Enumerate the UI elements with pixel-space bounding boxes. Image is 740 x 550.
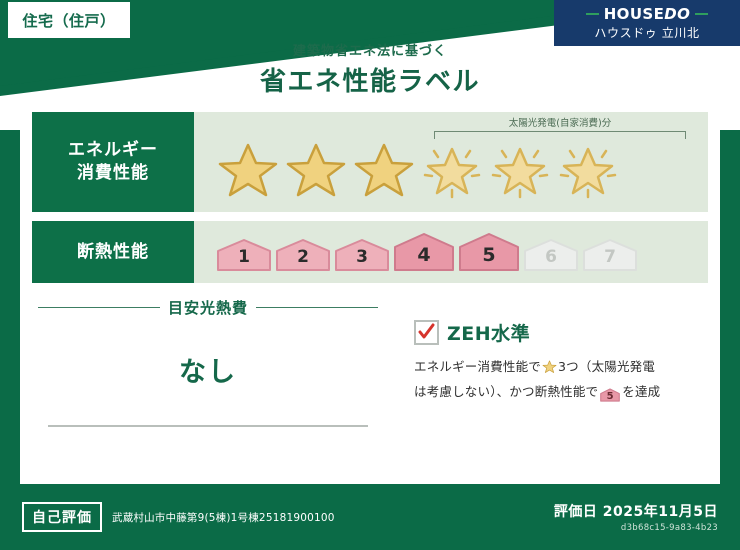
energy-performance-label-screen: 住宅（住戸） HOUSEDO ハウスドゥ 立川北 建築物省エネ法に基づく 省エネ…	[0, 0, 740, 550]
brand-name-accent: DO	[664, 5, 690, 23]
property-address: 武蔵村山市中藤第9(5棟)1号棟25181900100	[112, 510, 335, 525]
zeh-desc-part-2: 3つ（太陽光発電	[558, 359, 655, 374]
utility-cost-section: 目安光熱費 なし	[32, 297, 384, 447]
insulation-level-badge: 2	[275, 238, 331, 272]
star-icon-solar	[488, 139, 552, 199]
insulation-level-value: 3	[356, 247, 368, 272]
brand-rule-right-icon	[695, 13, 708, 15]
footer-left-group: 自己評価 武蔵村山市中藤第9(5棟)1号棟25181900100	[22, 502, 335, 532]
brand-branch-name: ハウスドゥ 立川北	[594, 24, 699, 41]
insulation-level-badge: 4	[393, 232, 455, 272]
page-title: 省エネ性能ラベル	[0, 61, 740, 98]
star-rating	[216, 139, 620, 199]
zeh-title: ZEH水準	[447, 319, 530, 346]
zeh-checkbox[interactable]	[414, 320, 439, 345]
energy-label-line-2: 消費性能	[77, 162, 149, 185]
evaluation-id: d3b68c15-9a83-4b23	[554, 523, 718, 533]
footer: 自己評価 武蔵村山市中藤第9(5棟)1号棟25181900100 評価日 202…	[0, 484, 740, 550]
insulation-level-value: 2	[297, 247, 309, 272]
star-icon-filled	[216, 139, 280, 199]
insulation-performance-value: 1 2 3	[194, 221, 708, 283]
evaluation-date-label: 評価日	[554, 504, 598, 520]
lower-section: 目安光熱費 なし ZEH水準 エネルギー消費性能で3つ（太陽光発電	[32, 297, 708, 447]
star-icon-solar	[420, 139, 484, 199]
insulation-level-scale: 1 2 3	[216, 232, 638, 272]
zeh-desc-part-4: を達成	[622, 384, 660, 399]
self-evaluation-badge: 自己評価	[22, 502, 102, 532]
label-card: エネルギー 消費性能 太陽光発電(自家消費)分	[20, 102, 720, 484]
heading-rule-right-icon	[256, 307, 378, 308]
insulation-level-badge: 1	[216, 238, 272, 272]
solar-bracket-line-icon	[434, 131, 686, 139]
insulation-level-badge-inactive: 6	[523, 238, 579, 272]
energy-performance-value: 太陽光発電(自家消費)分	[194, 112, 708, 212]
insulation-level-value: 7	[604, 247, 616, 272]
zeh-desc-part-3: は考慮しない）、かつ断熱性能で	[414, 384, 598, 399]
check-icon	[417, 322, 436, 341]
brand-rule-left-icon	[586, 13, 599, 15]
brand-name-main: HOUSE	[604, 5, 665, 23]
housing-type-tab-label: 住宅（住戸）	[22, 10, 115, 31]
star-icon-filled	[352, 139, 416, 199]
heading-rule-left-icon	[38, 307, 160, 308]
star-icon-inline	[542, 359, 557, 381]
insulation-level-value: 1	[238, 247, 250, 272]
utility-cost-heading-row: 目安光熱費	[32, 297, 384, 318]
insulation-badge-inline: 5	[600, 387, 620, 403]
footer-right-group: 評価日 2025年11月5日 d3b68c15-9a83-4b23	[554, 501, 718, 533]
insulation-level-value: 4	[417, 244, 430, 272]
insulation-level-badge-achieved: 5	[458, 232, 520, 272]
star-icon-filled	[284, 139, 348, 199]
zeh-section: ZEH水準 エネルギー消費性能で3つ（太陽光発電 は考慮しない）、かつ断熱性能で…	[384, 297, 708, 447]
energy-performance-label: エネルギー 消費性能	[32, 112, 194, 212]
insulation-level-value: 6	[545, 247, 557, 272]
utility-cost-heading: 目安光熱費	[168, 297, 248, 318]
evaluation-date: 評価日 2025年11月5日	[554, 501, 718, 521]
insulation-label-text: 断熱性能	[77, 241, 149, 264]
insulation-level-value: 5	[482, 244, 495, 272]
section-divider	[48, 425, 368, 427]
solar-bracket-label: 太陽光発電(自家消費)分	[434, 118, 686, 129]
zeh-heading-row: ZEH水準	[414, 319, 708, 346]
insulation-badge-inline-value: 5	[600, 387, 620, 406]
evaluation-date-value: 2025年11月5日	[603, 504, 718, 520]
header-title-block: 建築物省エネ法に基づく 省エネ性能ラベル	[0, 40, 740, 98]
brand-name-row: HOUSEDO	[586, 5, 709, 23]
insulation-level-badge-inactive: 7	[582, 238, 638, 272]
utility-cost-value: なし	[32, 350, 384, 389]
energy-label-line-1: エネルギー	[68, 139, 158, 162]
star-icon-solar	[556, 139, 620, 199]
zeh-desc-part-1: エネルギー消費性能で	[414, 359, 541, 374]
insulation-performance-row: 断熱性能 1 2	[32, 221, 708, 283]
brand-name: HOUSEDO	[604, 5, 691, 23]
insulation-performance-label: 断熱性能	[32, 221, 194, 283]
brand-logo: HOUSEDO ハウスドゥ 立川北	[554, 0, 740, 46]
housing-type-tab: 住宅（住戸）	[8, 2, 130, 38]
insulation-level-badge: 3	[334, 238, 390, 272]
solar-bracket: 太陽光発電(自家消費)分	[434, 118, 686, 140]
zeh-description: エネルギー消費性能で3つ（太陽光発電 は考慮しない）、かつ断熱性能で5を達成	[414, 356, 708, 403]
energy-performance-row: エネルギー 消費性能 太陽光発電(自家消費)分	[32, 112, 708, 212]
